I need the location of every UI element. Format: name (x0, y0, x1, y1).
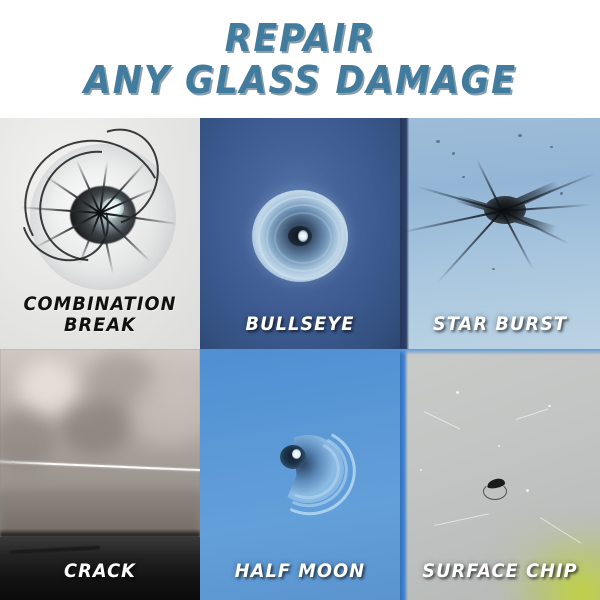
promo-poster: REPAIR ANY GLASS DAMAGE (0, 0, 600, 600)
cell-label-combination-break: COMBINATION BREAK (7, 294, 193, 337)
cell-label-crack: CRACK (7, 561, 193, 582)
grid-cell-surface-chip: SURFACE CHIP (400, 349, 600, 600)
cell-label-half-moon: HALF MOON (207, 561, 393, 582)
cell-label-surface-chip: SURFACE CHIP (407, 561, 593, 582)
grid-cell-combination-break: COMBINATION BREAK (0, 118, 200, 349)
grid-cell-crack: CRACK (0, 349, 200, 600)
grid-cell-star-burst: STAR BURST (400, 118, 600, 349)
combination-break-image (18, 136, 186, 296)
surface-chip-corner-glow (498, 518, 600, 600)
grid-cell-half-moon: HALF MOON (200, 349, 400, 600)
surface-chip-edge-top (400, 349, 600, 355)
damage-type-grid: COMBINATION BREAK BULLSEYE (0, 118, 600, 600)
cell-label-star-burst: STAR BURST (407, 314, 593, 335)
cell-label-bullseye: BULLSEYE (207, 314, 393, 335)
page-title-line-2: ANY GLASS DAMAGE (83, 61, 516, 99)
page-title-line-1: REPAIR (224, 19, 375, 57)
grid-cell-bullseye: BULLSEYE (200, 118, 400, 349)
poster-header: REPAIR ANY GLASS DAMAGE (0, 0, 600, 118)
